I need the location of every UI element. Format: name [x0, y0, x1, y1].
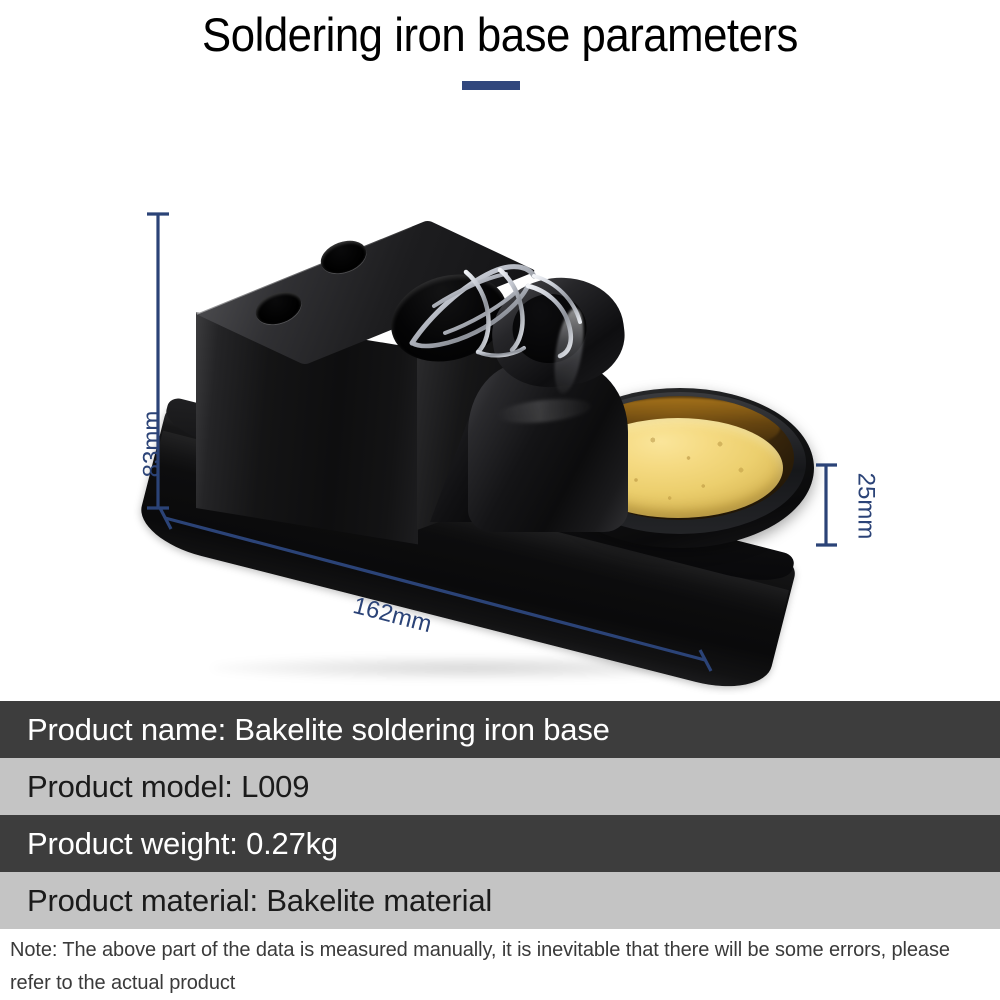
title-accent-bar — [462, 81, 520, 90]
page-header: Soldering iron base parameters — [0, 0, 1000, 100]
page-title: Soldering iron base parameters — [35, 2, 965, 68]
spec-row-product-weight: Product weight: 0.27kg — [0, 815, 1000, 872]
spec-row-product-material: Product material: Bakelite material — [0, 872, 1000, 929]
product-image-stage: 83mm 162mm 25mm — [0, 100, 1000, 695]
dimension-annotations — [0, 100, 1000, 695]
dim-line-162mm — [165, 518, 705, 660]
footer-note: Note: The above part of the data is meas… — [10, 934, 990, 1000]
spec-row-product-name: Product name: Bakelite soldering iron ba… — [0, 701, 1000, 758]
dimension-label-height: 83mm — [138, 411, 166, 478]
specifications-table: Product name: Bakelite soldering iron ba… — [0, 701, 1000, 929]
product-illustration: 83mm 162mm 25mm — [0, 100, 1000, 695]
spec-row-product-model: Product model: L009 — [0, 758, 1000, 815]
dimension-label-tray-depth: 25mm — [851, 473, 879, 540]
